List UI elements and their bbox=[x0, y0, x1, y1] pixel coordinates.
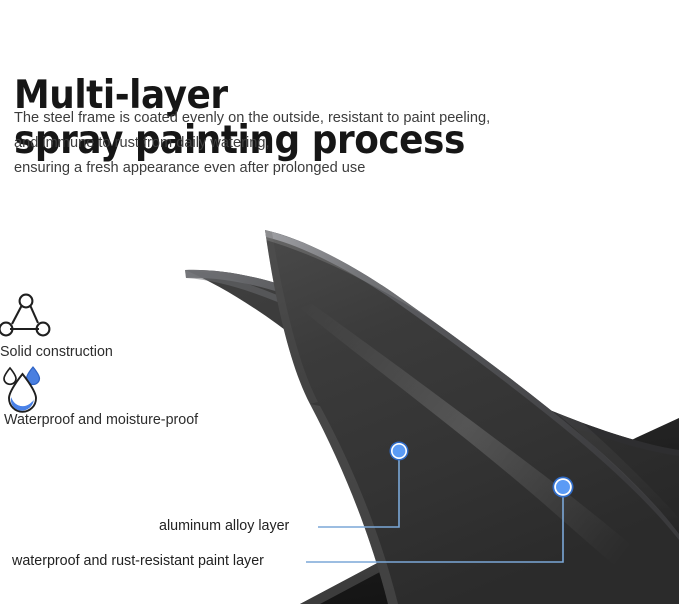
feature-label-solid-construction: Solid construction bbox=[0, 344, 113, 360]
feature-label-waterproof: Waterproof and moisture-proof bbox=[4, 412, 198, 428]
subtitle-line-1: The steel frame is coated evenly on the … bbox=[14, 106, 654, 131]
subtitle-line-2: and immune to rust from daily watering, bbox=[14, 131, 654, 156]
triangle-nodes-icon bbox=[0, 288, 52, 345]
callout-label-aluminum-alloy-layer: aluminum alloy layer bbox=[159, 518, 289, 534]
subtitle-line-3: ensuring a fresh appearance even after p… bbox=[14, 156, 654, 181]
product-photo bbox=[0, 188, 679, 604]
subtitle-text: The steel frame is coated evenly on the … bbox=[14, 106, 654, 181]
water-droplet-icon bbox=[0, 364, 52, 419]
callout-label-paint-layer: waterproof and rust-resistant paint laye… bbox=[12, 553, 264, 569]
infographic-canvas: Multi-layerspray painting process The st… bbox=[0, 0, 679, 604]
paint-layer-slab bbox=[265, 230, 679, 604]
